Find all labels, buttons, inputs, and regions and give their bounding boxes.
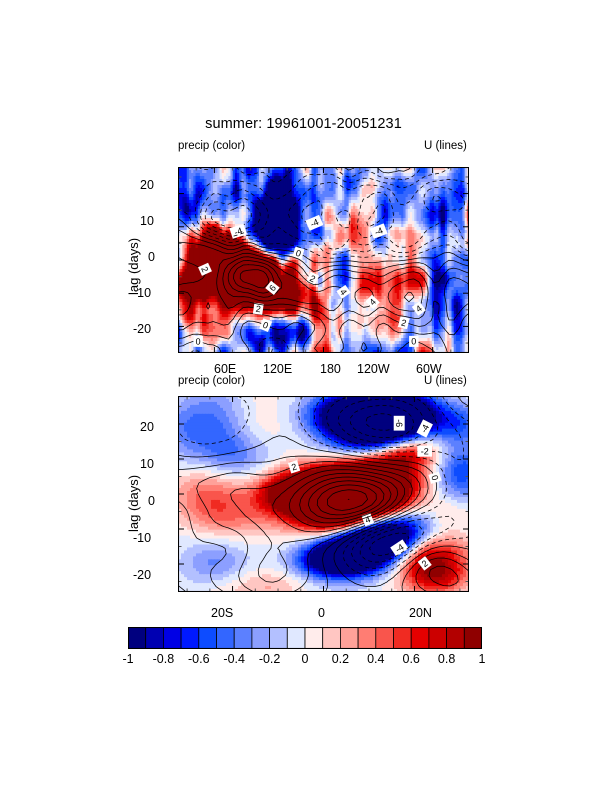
colorbar-cell (163, 628, 181, 649)
colorbar-cell (287, 628, 305, 649)
panel1-header-left: precip (color) (178, 140, 245, 152)
colorbar-cell (429, 628, 447, 649)
colorbar-cell (217, 628, 235, 649)
panel1-ytick-m20: -20 (133, 322, 151, 336)
colorbar (128, 627, 482, 649)
colorbar-cell (199, 628, 217, 649)
panel2-ytick-10: 10 (140, 457, 154, 471)
colorbar-cell (394, 628, 412, 649)
panel1-ytick-m10: -10 (133, 286, 151, 300)
colorbar-cell (464, 628, 482, 649)
colorbar-tick-label: 0.6 (402, 652, 419, 666)
panel2-xtick-20s: 20S (211, 606, 233, 620)
colorbar-tick-label: -0.4 (223, 652, 245, 666)
panel1-xtick-120e: 120E (263, 362, 292, 376)
panel2-xtick-0: 0 (318, 606, 325, 620)
colorbar-cell (376, 628, 394, 649)
panel2-plot-area: -6-4-4-20224 (178, 396, 469, 592)
colorbar-cell (128, 628, 146, 649)
panel2-ytick-20: 20 (140, 420, 154, 434)
panel2-ytick-m20: -20 (133, 568, 151, 582)
colorbar-cell (447, 628, 465, 649)
panel1-header-right: U (lines) (424, 140, 467, 152)
panel1-xtick-60w: 60W (416, 362, 442, 376)
panel2-ytick-0: 0 (148, 494, 155, 508)
panel2-header-left: precip (color) (178, 375, 245, 387)
colorbar-cell (270, 628, 288, 649)
colorbar-cell (340, 628, 358, 649)
colorbar-tick-label: 1 (479, 652, 486, 666)
colorbar-cell (305, 628, 323, 649)
colorbar-tick-label: 0.4 (367, 652, 384, 666)
panel1-ytick-10: 10 (140, 214, 154, 228)
colorbar-cell (146, 628, 164, 649)
colorbar-cell (252, 628, 270, 649)
panel1-plot-area: -4-4-4000022224446 (178, 167, 469, 353)
colorbar-tick-label: 0.8 (438, 652, 455, 666)
colorbar-tick-label: -0.6 (188, 652, 210, 666)
colorbar-tick-label: 0.2 (332, 652, 349, 666)
panel1-xtick-60e: 60E (214, 362, 236, 376)
panel2-header-right: U (lines) (424, 375, 467, 387)
colorbar-cell (234, 628, 252, 649)
figure-title: summer: 19961001-20051231 (0, 116, 607, 132)
colorbar-cell (323, 628, 341, 649)
colorbar-tick-label: 0 (302, 652, 309, 666)
colorbar-cell (358, 628, 376, 649)
panel2-xtick-20n: 20N (409, 606, 432, 620)
panel2-ytick-m10: -10 (133, 531, 151, 545)
colorbar-cell (181, 628, 199, 649)
panel2-ylabel: lag (days) (126, 475, 141, 532)
panel1-xtick-180: 180 (320, 362, 341, 376)
colorbar-tick-label: -0.2 (259, 652, 281, 666)
panel1-ytick-0: 0 (148, 250, 155, 264)
colorbar-cell (411, 628, 429, 649)
colorbar-tick-label: -1 (122, 652, 133, 666)
panel1-xtick-120w: 120W (357, 362, 390, 376)
colorbar-tick-label: -0.8 (153, 652, 175, 666)
panel1-ytick-20: 20 (140, 178, 154, 192)
